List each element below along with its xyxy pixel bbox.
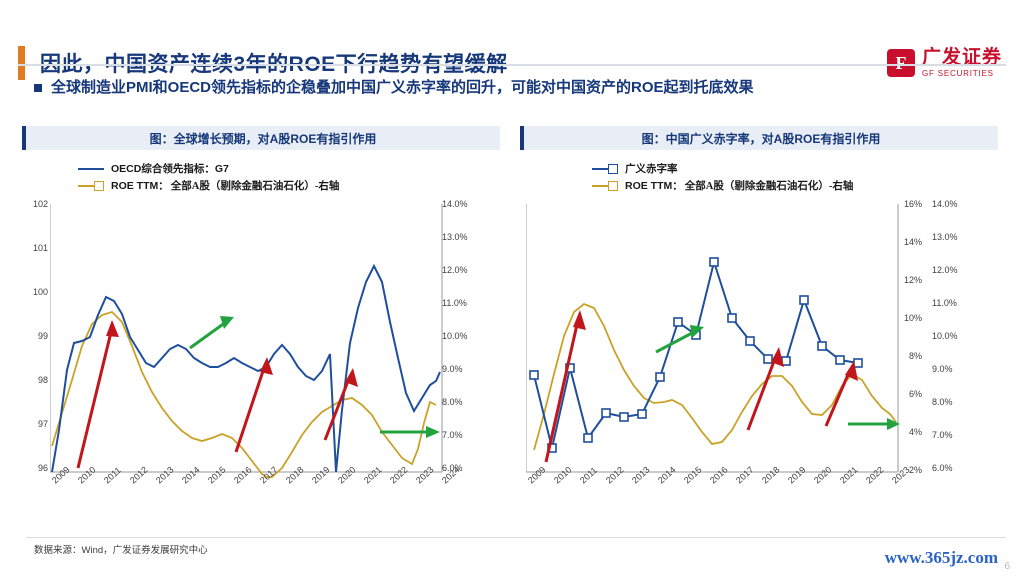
legend-item-oecd: OECD综合领先指标：G7 bbox=[78, 160, 500, 177]
annotation-arrow-green-1 bbox=[190, 316, 234, 348]
legend-label-roe-bold: ROE TTM： bbox=[625, 178, 683, 193]
right-chart-canvas bbox=[526, 200, 900, 480]
brand-mark-icon: F bbox=[887, 49, 915, 77]
title-divider bbox=[18, 64, 1006, 66]
ytick: 14% bbox=[904, 237, 922, 247]
ytick: 10% bbox=[904, 313, 922, 323]
ytick: 98 bbox=[38, 375, 48, 385]
annotation-arrow-green-2 bbox=[380, 426, 440, 438]
bullet-row: 全球制造业PMI和OECD领先指标的企稳叠加中国广义赤字率的回升，可能对中国资产… bbox=[34, 78, 994, 98]
panel-right-plot: 16% 14% 12% 10% 8% 6% 4% 2% 14.0% 13.0% … bbox=[520, 200, 998, 500]
ytick: 16% bbox=[904, 199, 922, 209]
ytick: 101 bbox=[33, 243, 48, 253]
annotation-arrow-red-2 bbox=[236, 357, 273, 452]
ytick: 7.0% bbox=[442, 430, 463, 440]
right-chart-x-axis: 2009 2010 2011 2012 2013 2014 2015 2016 … bbox=[526, 476, 900, 516]
legend-marker-blue-icon bbox=[608, 164, 618, 174]
right-chart-y-axis-right: 14.0% 13.0% 12.0% 11.0% 10.0% 9.0% 8.0% … bbox=[932, 200, 982, 472]
ytick: 6% bbox=[909, 389, 922, 399]
panel-right-legend: 广义赤字率 ROE TTM： 全部A股（剔除金融石油石化）-右轴 bbox=[520, 160, 998, 194]
ytick: 4% bbox=[909, 427, 922, 437]
left-chart-x-axis: 2009 2010 2011 2012 2013 2014 2015 2016 … bbox=[50, 476, 444, 516]
footer-divider bbox=[26, 537, 1006, 538]
left-chart-y-axis-left: 102 101 100 99 98 97 96 bbox=[22, 200, 48, 472]
bullet-text: 全球制造业PMI和OECD领先指标的企稳叠加中国广义赤字率的回升，可能对中国资产… bbox=[51, 78, 754, 98]
series-line-deficit bbox=[534, 262, 858, 448]
legend-line-blue-icon bbox=[78, 168, 104, 170]
watermark: www.365jz.com bbox=[885, 548, 998, 568]
ytick: 100 bbox=[33, 287, 48, 297]
ytick: 97 bbox=[38, 419, 48, 429]
annotation-arrow-green-2 bbox=[848, 418, 900, 430]
ytick: 14.0% bbox=[932, 199, 958, 209]
legend-label-deficit: 广义赤字率 bbox=[625, 161, 678, 176]
ytick: 12.0% bbox=[932, 265, 958, 275]
ytick: 96 bbox=[38, 463, 48, 473]
panel-right-title: 图：中国广义赤字率，对A股ROE有指引作用 bbox=[642, 130, 881, 147]
ytick: 12.0% bbox=[442, 265, 468, 275]
legend-label-oecd: OECD综合领先指标：G7 bbox=[111, 161, 229, 176]
ytick: 10.0% bbox=[932, 331, 958, 341]
ytick: 11.0% bbox=[442, 298, 467, 308]
ytick: 8.0% bbox=[932, 397, 953, 407]
brand-name-en: GF SECURITIES bbox=[922, 70, 1002, 78]
legend-label-roe-rest: 全部A股（剔除金融石油石化）-右轴 bbox=[685, 178, 854, 193]
ytick: 2% bbox=[909, 465, 922, 475]
ytick: 6.0% bbox=[932, 463, 953, 473]
brand-text-group: 广发证券 GF SECURITIES bbox=[922, 48, 1002, 78]
title-bar: 因此，中国资产连续3年的ROE下行趋势有望缓解 F 广发证券 GF SECURI… bbox=[0, 22, 1024, 62]
panel-left-title: 图：全球增长预期，对A股ROE有指引作用 bbox=[150, 130, 377, 147]
left-chart-canvas bbox=[50, 200, 444, 480]
series-line-roe bbox=[534, 304, 896, 450]
ytick: 13.0% bbox=[442, 232, 468, 242]
legend-label-roe-rest: 全部A股（剔除金融石油石化）-右轴 bbox=[171, 178, 340, 193]
title-accent-bar bbox=[18, 46, 25, 80]
legend-item-roe: ROE TTM： 全部A股（剔除金融石油石化）-右轴 bbox=[78, 177, 500, 194]
annotation-arrow-red-3 bbox=[826, 361, 858, 426]
panel-right-header: 图：中国广义赤字率，对A股ROE有指引作用 bbox=[520, 126, 998, 150]
ytick: 11.0% bbox=[932, 298, 957, 308]
panel-left-legend: OECD综合领先指标：G7 ROE TTM： 全部A股（剔除金融石油石化）-右轴 bbox=[22, 160, 500, 194]
page-number: 6 bbox=[1004, 561, 1010, 572]
ytick: 102 bbox=[33, 199, 48, 209]
legend-label-roe-bold: ROE TTM： bbox=[111, 178, 169, 193]
chart-panel-left: 图：全球增长预期，对A股ROE有指引作用 OECD综合领先指标：G7 ROE T… bbox=[22, 126, 500, 538]
ytick: 10.0% bbox=[442, 331, 468, 341]
panel-left-header: 图：全球增长预期，对A股ROE有指引作用 bbox=[22, 126, 500, 150]
legend-item-roe: ROE TTM： 全部A股（剔除金融石油石化）-右轴 bbox=[592, 177, 998, 194]
ytick: 7.0% bbox=[932, 430, 953, 440]
bullet-square-icon bbox=[34, 84, 42, 92]
chart-panel-right: 图：中国广义赤字率，对A股ROE有指引作用 广义赤字率 ROE TTM： 全部A… bbox=[520, 126, 998, 538]
annotation-arrow-red-3 bbox=[325, 368, 358, 440]
ytick: 12% bbox=[904, 275, 922, 285]
ytick: 8.0% bbox=[442, 397, 463, 407]
brand-logo: F 广发证券 GF SECURITIES bbox=[887, 46, 1002, 80]
legend-marker-gold-icon bbox=[94, 181, 104, 191]
left-chart-y-axis-right: 14.0% 13.0% 12.0% 11.0% 10.0% 9.0% 8.0% … bbox=[442, 200, 488, 472]
ytick: 9.0% bbox=[932, 364, 953, 374]
ytick: 14.0% bbox=[442, 199, 468, 209]
ytick: 9.0% bbox=[442, 364, 463, 374]
legend-item-deficit: 广义赤字率 bbox=[592, 160, 998, 177]
page-title: 因此，中国资产连续3年的ROE下行趋势有望缓解 bbox=[40, 48, 508, 78]
source-note: 数据来源：Wind，广发证券发展研究中心 bbox=[34, 542, 208, 556]
ytick: 8% bbox=[909, 351, 922, 361]
ytick: 99 bbox=[38, 331, 48, 341]
panel-left-plot: 102 101 100 99 98 97 96 14.0% 13.0% 12.0… bbox=[22, 200, 500, 500]
series-line-oecd bbox=[52, 266, 440, 472]
ytick: 13.0% bbox=[932, 232, 958, 242]
legend-marker-gold-icon bbox=[608, 181, 618, 191]
